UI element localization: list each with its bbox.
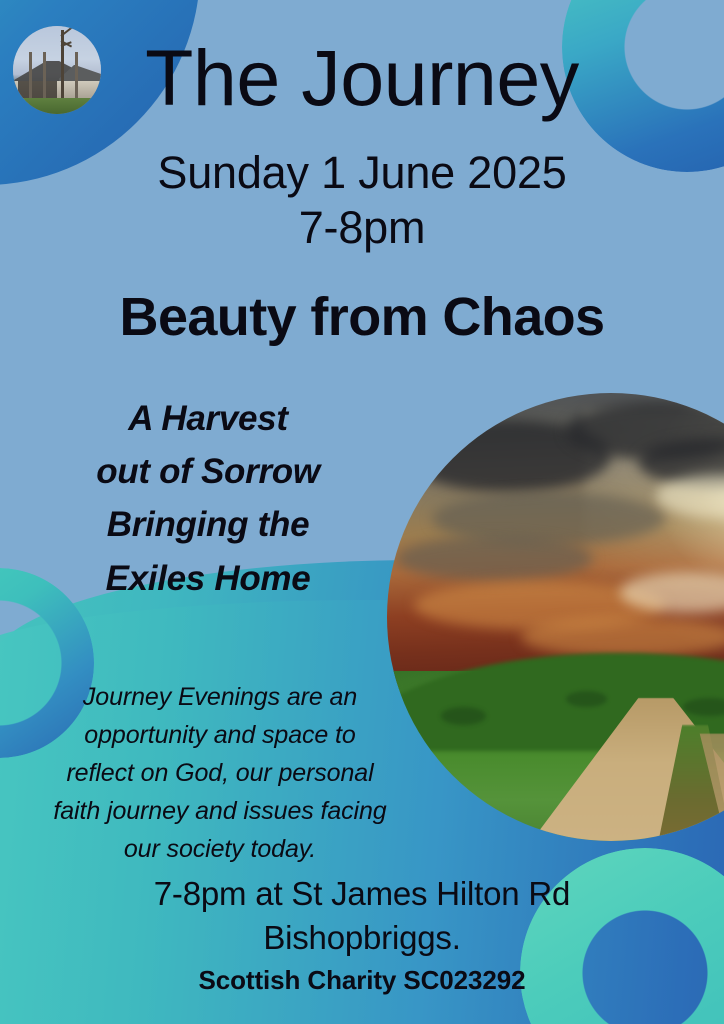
poster-canvas: The Journey Sunday 1 June 2025 7-8pm Bea… xyxy=(0,0,724,1024)
event-time-line: 7-8pm xyxy=(0,201,724,256)
event-description: Journey Evenings are an opportunity and … xyxy=(22,678,418,868)
event-subheading-line: Bringing the xyxy=(36,498,380,551)
event-venue-line: Bishopbriggs. xyxy=(0,916,724,960)
event-description-line: Journey Evenings are an xyxy=(22,678,418,716)
landscape-photo xyxy=(387,393,724,841)
event-subheading: A Harvest out of Sorrow Bringing the Exi… xyxy=(36,392,380,605)
charity-number: Scottish Charity SC023292 xyxy=(0,965,724,996)
landscape-photo-bush xyxy=(683,698,724,716)
page-title: The Journey xyxy=(0,38,724,119)
event-venue-line: 7-8pm at St James Hilton Rd xyxy=(0,872,724,916)
event-headline: Beauty from Chaos xyxy=(0,286,724,348)
landscape-photo-bush xyxy=(441,707,486,725)
event-date: Sunday 1 June 2025 7-8pm xyxy=(0,146,724,256)
event-description-line: faith journey and issues facing xyxy=(22,792,418,830)
event-description-line: opportunity and space to xyxy=(22,716,418,754)
event-date-line: Sunday 1 June 2025 xyxy=(0,146,724,201)
event-subheading-line: A Harvest xyxy=(36,392,380,445)
event-subheading-line: Exiles Home xyxy=(36,552,380,605)
landscape-photo-cloud xyxy=(396,536,593,581)
event-subheading-line: out of Sorrow xyxy=(36,445,380,498)
event-description-line: reflect on God, our personal xyxy=(22,754,418,792)
event-description-line: our society today. xyxy=(22,830,418,868)
event-venue: 7-8pm at St James Hilton Rd Bishopbriggs… xyxy=(0,872,724,960)
landscape-photo-bush xyxy=(566,691,606,707)
